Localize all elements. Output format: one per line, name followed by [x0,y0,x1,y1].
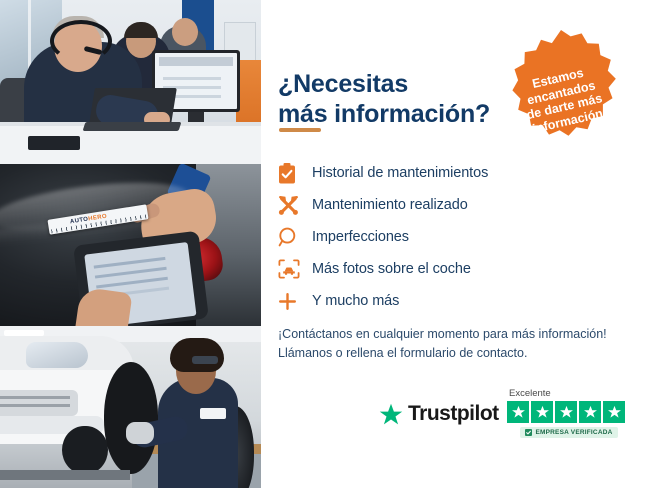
title-divider [279,128,321,132]
trustpilot-wordmark: Trustpilot [408,402,499,426]
content-panel: ¿Necesitas más información? Estamos enca… [261,0,650,488]
feature-item-mas: Y mucho más [278,285,608,317]
page-title-line1: ¿Necesitas [278,70,408,98]
verified-check-icon [525,429,532,436]
rear-wheel [62,426,108,474]
verified-business-badge: EMPRESA VERIFICADA [520,427,617,438]
wrench-screwdriver-icon [278,193,312,217]
rating-star [507,401,529,423]
feature-item-fotos: Más fotos sobre el coche [278,253,608,285]
call-center-agents-photo [0,0,261,164]
safety-glasses [192,356,218,364]
feature-label: Y mucho más [312,293,399,309]
plus-icon [278,289,312,313]
feature-item-imperfecciones: Imperfecciones [278,221,608,253]
clipboard-check-icon [278,161,312,185]
trustpilot-stars [507,401,631,423]
verified-business-text: EMPRESA VERIFICADA [535,429,612,436]
page-title-line2: más información? [278,100,490,128]
mechanic-hair [170,338,224,372]
feature-label: Más fotos sobre el coche [312,261,471,277]
contact-paragraph: ¡Contáctanos en cualquier momento para m… [278,325,630,363]
rating-star [555,401,577,423]
rating-star [579,401,601,423]
car-lift-arm [0,470,130,480]
work-glove [126,422,154,444]
promo-card: AUTOHERO [0,0,650,488]
trustpilot-widget[interactable]: Trustpilot Excelente [379,388,631,450]
laptop-base [83,122,182,131]
trustpilot-rating-label: Excelente [507,388,631,399]
feature-label: Imperfecciones [312,229,409,245]
contact-paragraph-line2: Llámanos o rellena el formulario de cont… [278,346,527,360]
feature-list: Historial de mantenimientos M [278,157,608,317]
car-inspection-ruler-photo: AUTOHERO [0,164,261,326]
magnifier-icon [278,225,312,249]
car-grille [0,390,78,416]
rating-star [603,401,625,423]
car-scan-icon [278,257,312,281]
trustpilot-logo[interactable]: Trustpilot [379,402,499,426]
contact-paragraph-line1: ¡Contáctanos en cualquier momento para m… [278,327,607,341]
trustpilot-star-icon [379,403,403,426]
feature-item-mantenimiento: Mantenimiento realizado [278,189,608,221]
detached-tire [104,362,158,474]
photo-column: AUTOHERO [0,0,261,488]
headset-icon [484,39,512,64]
desk-tablet [28,136,80,150]
monitor-stand [188,112,204,122]
uniform-logo-patch [200,408,226,419]
headset-band [50,20,112,62]
feature-item-historial: Historial de mantenimientos [278,157,608,189]
trustpilot-rating-block: Excelente [507,388,631,441]
car-headlight [26,342,88,368]
mechanic-wheel-photo [0,326,261,488]
support-badge: Estamos encantados de darte más informac… [497,28,625,156]
feature-label: Mantenimiento realizado [312,197,468,213]
background-person-far-head [172,18,198,46]
badge-text: Estamos encantados de darte más informac… [506,60,620,140]
rating-star [531,401,553,423]
feature-label: Historial de mantenimientos [312,165,488,181]
page-title: ¿Necesitas más información? [278,69,518,129]
